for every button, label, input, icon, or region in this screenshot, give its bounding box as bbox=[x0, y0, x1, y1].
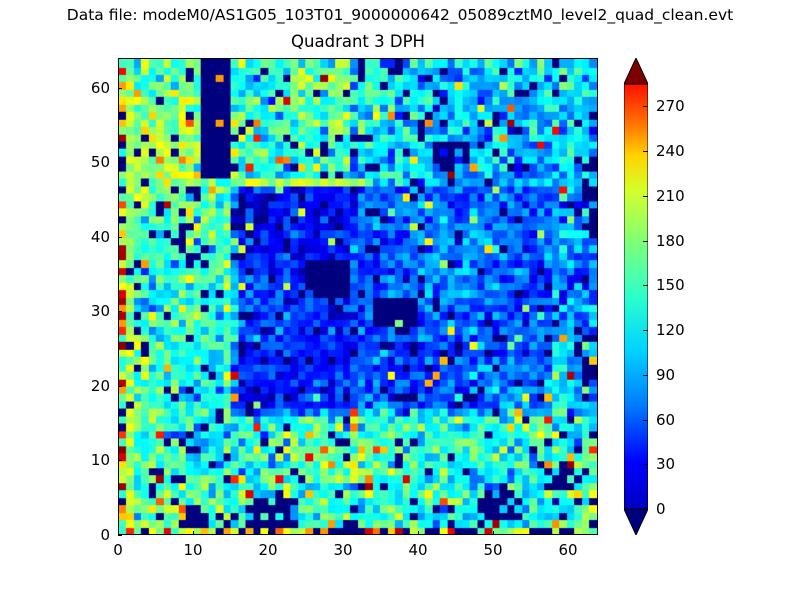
plot-title: Quadrant 3 DPH bbox=[118, 32, 598, 51]
colorbar-tick-mark bbox=[643, 196, 648, 197]
y-tick-label: 30 bbox=[72, 302, 110, 320]
x-tick-label: 50 bbox=[483, 541, 502, 559]
colorbar-tick-mark bbox=[643, 330, 648, 331]
y-tick-mark bbox=[118, 386, 122, 387]
colorbar-tick-label: 0 bbox=[656, 500, 666, 518]
x-tick-label: 30 bbox=[333, 541, 352, 559]
colorbar-tick-mark bbox=[643, 375, 648, 376]
colorbar-tick-label: 120 bbox=[656, 321, 685, 339]
colorbar-tick-label: 270 bbox=[656, 97, 685, 115]
colorbar-tick-label: 90 bbox=[656, 366, 675, 384]
heatmap-image[interactable] bbox=[119, 59, 597, 534]
colorbar-tick-mark bbox=[643, 464, 648, 465]
y-tick-label: 10 bbox=[72, 451, 110, 469]
figure-canvas: Data file: modeM0/AS1G05_103T01_90000006… bbox=[0, 0, 800, 600]
y-tick-mark bbox=[118, 237, 122, 238]
y-tick-mark bbox=[118, 460, 122, 461]
y-tick-label: 20 bbox=[72, 377, 110, 395]
x-tick-mark bbox=[493, 531, 494, 535]
colorbar-tick-label: 240 bbox=[656, 142, 685, 160]
y-tick-mark bbox=[118, 162, 122, 163]
colorbar-tick-mark bbox=[643, 241, 648, 242]
x-tick-mark bbox=[568, 531, 569, 535]
x-tick-mark bbox=[418, 531, 419, 535]
y-tick-label: 60 bbox=[72, 79, 110, 97]
y-tick-label: 40 bbox=[72, 228, 110, 246]
colorbar-tick-label: 180 bbox=[656, 232, 685, 250]
y-tick-mark bbox=[118, 88, 122, 89]
y-tick-label: 50 bbox=[72, 153, 110, 171]
heatmap-axes[interactable] bbox=[118, 58, 598, 535]
colorbar-tick-label: 30 bbox=[656, 455, 675, 473]
colorbar-tick-mark bbox=[643, 420, 648, 421]
colorbar-tick-label: 60 bbox=[656, 411, 675, 429]
x-tick-label: 20 bbox=[258, 541, 277, 559]
x-tick-mark bbox=[193, 531, 194, 535]
colorbar-tick-mark bbox=[643, 106, 648, 107]
x-tick-label: 0 bbox=[113, 541, 123, 559]
colorbar-tick-label: 210 bbox=[656, 187, 685, 205]
colorbar-tick-mark bbox=[643, 285, 648, 286]
data-file-label: Data file: modeM0/AS1G05_103T01_90000006… bbox=[0, 6, 800, 24]
x-tick-label: 10 bbox=[183, 541, 202, 559]
x-tick-mark bbox=[268, 531, 269, 535]
x-tick-label: 60 bbox=[558, 541, 577, 559]
colorbar-tick-mark bbox=[643, 151, 648, 152]
y-tick-mark bbox=[118, 535, 122, 536]
colorbar-tick-mark bbox=[643, 509, 648, 510]
x-tick-label: 40 bbox=[408, 541, 427, 559]
colorbar-tick-label: 150 bbox=[656, 276, 685, 294]
y-tick-label: 0 bbox=[72, 526, 110, 544]
y-tick-mark bbox=[118, 311, 122, 312]
x-tick-mark bbox=[343, 531, 344, 535]
